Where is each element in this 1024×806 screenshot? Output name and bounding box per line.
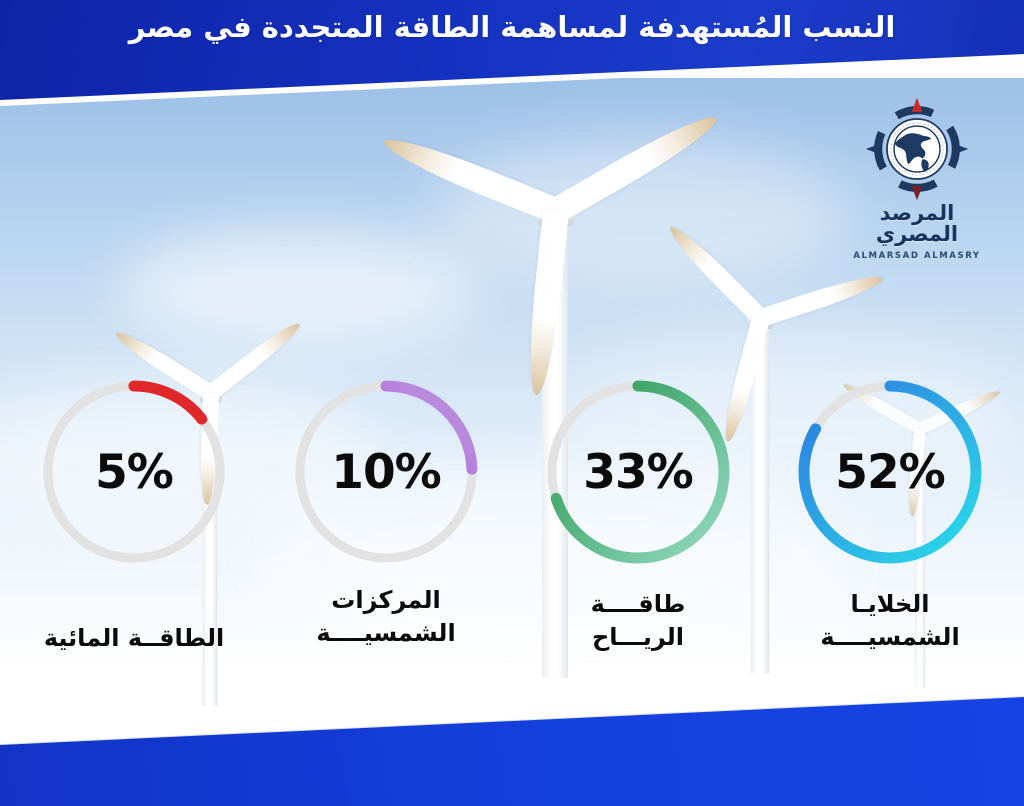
donut-label-csp: المركزات الشمسيــــة	[270, 584, 502, 650]
donut-chart-csp: 10% المركزات الشمسيــــة	[270, 372, 502, 692]
donut-chart-wind: 33% طاقــــة الريـــاح	[522, 372, 754, 692]
donut-label-hydropower: الطاقــة المائية	[18, 584, 250, 655]
footer-band	[0, 696, 1024, 806]
logo-arabic-name: المرصد المصري	[832, 203, 1002, 246]
compass-globe-icon	[864, 96, 970, 202]
logo-arabic-line-1: المرصد	[832, 203, 1002, 224]
turbine-blade	[380, 130, 561, 223]
donut-label-line: الخلايـا	[774, 588, 1006, 621]
turbine-blade	[758, 270, 885, 327]
donut-value-pv: 52%	[790, 372, 990, 572]
infographic-root: النسب المُستهدفة لمساهمة الطاقة المتجددة…	[0, 0, 1024, 806]
donut-chart-pv: 52% الخلايـا الشمسيــــة	[774, 372, 1006, 692]
donut-value-wind: 33%	[538, 372, 738, 572]
donut-label-line: المركزات	[270, 584, 502, 617]
donut-label-wind: طاقــــة الريـــاح	[522, 584, 754, 654]
donut-value-hydropower: 5%	[34, 372, 234, 572]
donut-value-csp: 10%	[286, 372, 486, 572]
logo-arabic-line-2: المصري	[832, 224, 1002, 245]
donut-ring: 10%	[286, 372, 486, 572]
donut-label-line: طاقــــة	[522, 588, 754, 621]
donut-chart-hydropower: 5% الطاقــة المائية	[18, 372, 250, 692]
donut-ring: 33%	[538, 372, 738, 572]
donut-label-line: الشمسيــــة	[270, 617, 502, 650]
donut-chart-row: 5% الطاقــة المائية 10%	[0, 372, 1024, 692]
donut-ring: 52%	[790, 372, 990, 572]
donut-ring: 5%	[34, 372, 234, 572]
logo-english-name: ALMARSAD ALMASRY	[832, 251, 1002, 261]
page-title: النسب المُستهدفة لمساهمة الطاقة المتجددة…	[0, 8, 1024, 47]
donut-label-line: الريـــاح	[522, 621, 754, 654]
donut-label-pv: الخلايـا الشمسيــــة	[774, 584, 1006, 654]
donut-label-line: الشمسيــــة	[774, 621, 1006, 654]
donut-label-line: الطاقــة المائية	[18, 622, 250, 655]
logo: المرصد المصري ALMARSAD ALMASRY	[832, 96, 1002, 276]
